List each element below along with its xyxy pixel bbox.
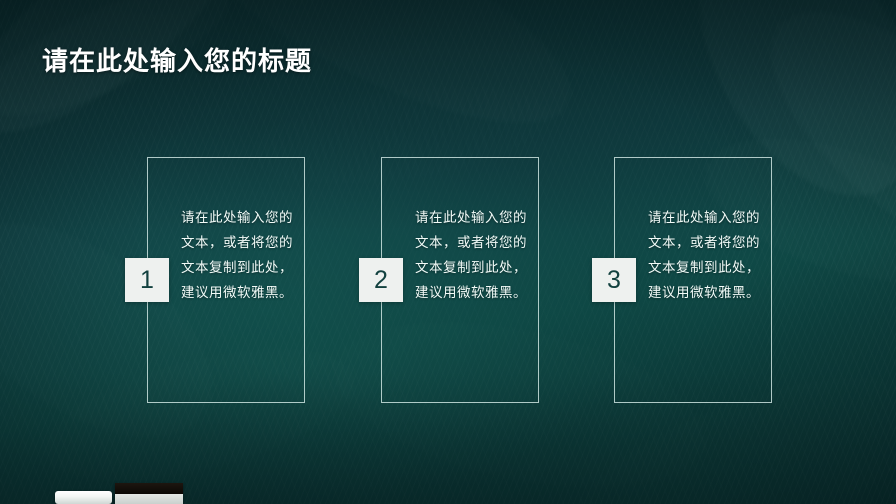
content-column-1[interactable]: 请在此处输入您的文本，或者将您的文本复制到此处，建议用微软雅黑。 1	[147, 157, 305, 403]
chalk-smear	[162, 0, 599, 165]
eraser-felt	[115, 483, 183, 494]
eraser-body	[115, 494, 183, 504]
column-body-1: 请在此处输入您的文本，或者将您的文本复制到此处，建议用微软雅黑。	[175, 205, 299, 305]
content-column-2[interactable]: 请在此处输入您的文本，或者将您的文本复制到此处，建议用微软雅黑。 2	[381, 157, 539, 403]
column-number-badge-2[interactable]: 2	[359, 258, 403, 302]
blackboard-eraser-icon	[115, 483, 183, 504]
column-number-badge-3[interactable]: 3	[592, 258, 636, 302]
content-column-3[interactable]: 请在此处输入您的文本，或者将您的文本复制到此处，建议用微软雅黑。 3	[614, 157, 772, 403]
chalk-stick-icon	[55, 491, 112, 504]
chalk-smear	[0, 0, 272, 169]
presentation-slide: 请在此处输入您的标题 请在此处输入您的文本，或者将您的文本复制到此处，建议用微软…	[0, 0, 896, 504]
column-body-2: 请在此处输入您的文本，或者将您的文本复制到此处，建议用微软雅黑。	[409, 205, 533, 305]
column-number-badge-1[interactable]: 1	[125, 258, 169, 302]
column-body-3: 请在此处输入您的文本，或者将您的文本复制到此处，建议用微软雅黑。	[642, 205, 766, 305]
page-title: 请在此处输入您的标题	[42, 41, 312, 78]
